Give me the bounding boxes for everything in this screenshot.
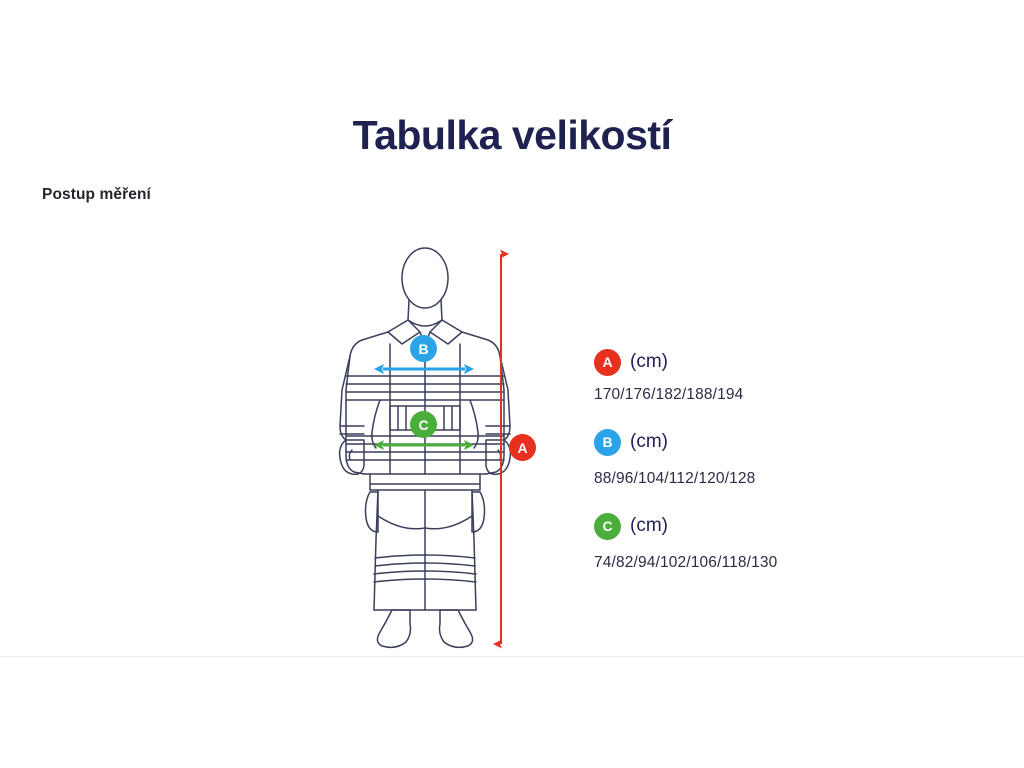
- page-title: Tabulka velikostí: [0, 112, 1024, 159]
- figure-badge-b: B: [410, 335, 437, 362]
- figure-badge-a: A: [509, 434, 536, 461]
- legend-row-c: C (cm) 74/82/94/102/106/118/130: [594, 512, 924, 572]
- section-label-measurement-procedure: Postup měření: [42, 186, 151, 204]
- legend-head-b: B (cm): [594, 428, 924, 456]
- legend-values-a: 170/176/182/188/194: [594, 386, 924, 404]
- jacket-side-left: [346, 390, 364, 474]
- cuff-left: [340, 426, 364, 434]
- legend-badge-b: B: [594, 429, 621, 456]
- boot-right: [440, 610, 473, 647]
- size-chart-card: Tabulka velikostí Postup měření: [0, 0, 1024, 657]
- legend-badge-a: A: [594, 349, 621, 376]
- boot-left: [377, 610, 410, 647]
- measurement-legend: A (cm) 170/176/182/188/194 B (cm) 88/96/…: [594, 348, 924, 589]
- legend-row-a: A (cm) 170/176/182/188/194: [594, 348, 924, 404]
- legend-unit-a: (cm): [630, 351, 668, 373]
- size-chart-page: Tabulka velikostí Postup měření: [0, 0, 1024, 768]
- legend-row-b: B (cm) 88/96/104/112/120/128: [594, 428, 924, 488]
- trouser-leg-left-outer: [374, 490, 378, 610]
- legend-values-c: 74/82/94/102/106/118/130: [594, 554, 924, 572]
- legend-head-a: A (cm): [594, 348, 924, 376]
- legend-head-c: C (cm): [594, 512, 924, 540]
- trouser-leg-right-outer: [472, 490, 476, 610]
- figure-badge-c: C: [410, 411, 437, 438]
- head-outline: [402, 248, 448, 308]
- glove-left: [340, 440, 364, 474]
- legend-values-b: 88/96/104/112/120/128: [594, 470, 924, 488]
- legend-badge-c: C: [594, 513, 621, 540]
- trouser-waistband: [370, 474, 480, 490]
- legend-unit-b: (cm): [630, 431, 668, 453]
- legend-unit-c: (cm): [630, 515, 668, 537]
